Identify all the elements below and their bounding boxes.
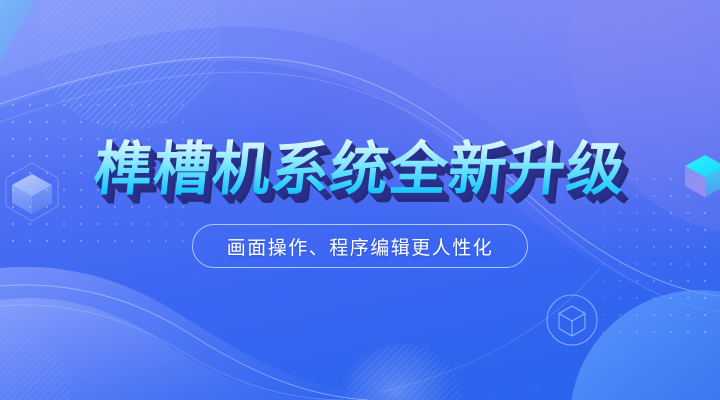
- subtitle-pill: 画面操作、程序编辑更人性化: [192, 224, 529, 268]
- headline-text: 榫槽机系统全新升级: [76, 132, 644, 206]
- promo-banner: 榫槽机系统全新升级 榫槽机系统全新升级 画面操作、程序编辑更人性化: [0, 0, 720, 400]
- subtitle-text: 画面操作、程序编辑更人性化: [227, 233, 494, 260]
- headline: 榫槽机系统全新升级 榫槽机系统全新升级: [80, 132, 640, 206]
- banner-content: 榫槽机系统全新升级 榫槽机系统全新升级 画面操作、程序编辑更人性化: [0, 0, 720, 400]
